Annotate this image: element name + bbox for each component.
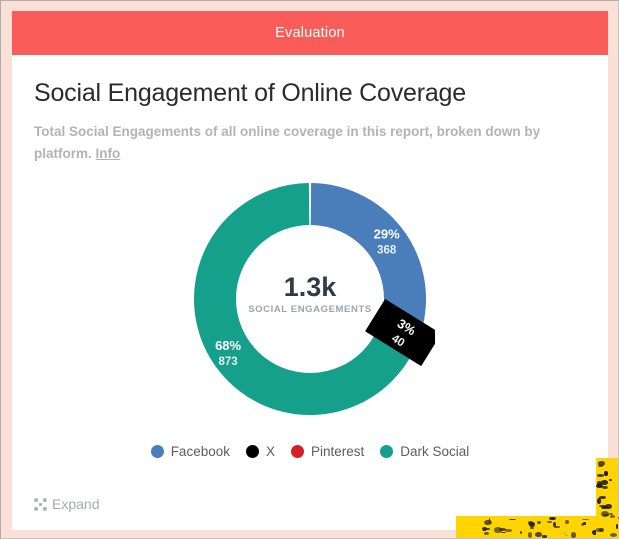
tape-speck [616,524,618,528]
tape-speck [599,505,606,507]
legend-dot-icon [380,445,393,458]
tape-speck [581,523,584,526]
tape-speck [542,535,547,537]
tape-speck [482,527,487,531]
tape-speck [565,520,569,524]
center-label: SOCIAL ENGAGEMENTS [248,304,372,315]
tape-speck [484,520,491,525]
tape-overlay-bottom [456,516,619,538]
tape-speck [601,511,609,517]
page-title: Social Engagement of Online Coverage [34,79,586,108]
card-frame: Evaluation Social Engagement of Online C… [12,11,608,530]
card-body: Social Engagement of Online Coverage Tot… [12,55,608,530]
tape-speck [553,522,556,527]
tape-speck [610,533,617,537]
tape-speck [549,517,556,519]
tape-speck [571,532,576,537]
slice-percent-facebook: 29% [374,227,400,242]
tape-speck [499,528,506,531]
tape-overlay-right [596,458,618,538]
tape-speck [564,533,565,535]
expand-grid-icon [34,498,47,511]
tape-speck [602,486,608,490]
banner-title: Evaluation [275,25,345,41]
tape-speck [566,535,567,536]
legend-label: Facebook [171,444,230,459]
donut-chart: 29%36868%873 3%40 1.3k SOCIAL ENGAGEMENT… [34,174,586,426]
tape-speck [537,521,541,524]
tape-speck [597,498,601,503]
card-subtitle: Total Social Engagements of all online c… [34,121,554,165]
donut-svg: 29%36868%873 3%40 1.3k SOCIAL ENGAGEMENT… [185,174,435,424]
slice-percent-dark-social: 68% [215,338,241,353]
info-link[interactable]: Info [96,146,121,161]
tape-speck [505,529,512,532]
center-total: 1.3k [284,272,338,302]
tape-speck [529,522,534,527]
tape-speck [501,532,506,533]
legend-item-dark-social[interactable]: Dark Social [380,444,469,459]
report-card-screen: Evaluation Social Engagement of Online C… [0,0,619,539]
tape-speck [609,479,612,481]
evaluation-banner: Evaluation [12,11,608,55]
tape-speck [598,465,602,467]
chart-legend: FacebookXPinterestDark Social [34,444,586,459]
slice-value-facebook: 368 [377,245,397,257]
legend-label: X [266,444,275,459]
legend-item-pinterest[interactable]: Pinterest [291,444,364,459]
tape-speck [582,519,589,520]
legend-item-x[interactable]: X [246,444,275,459]
tape-speck [520,531,523,534]
legend-label: Dark Social [400,444,469,459]
tape-speck [484,532,490,535]
expand-label: Expand [52,496,99,512]
tape-speck [509,519,515,520]
tape-speck [604,471,607,476]
slice-value-dark-social: 873 [219,356,238,368]
legend-label: Pinterest [311,444,364,459]
tape-speck [547,521,552,524]
legend-item-facebook[interactable]: Facebook [151,444,230,459]
tape-speck [535,532,543,537]
legend-dot-icon [151,445,164,458]
tape-speck [530,527,535,529]
tape-speck [528,532,533,538]
tape-speck [597,474,605,477]
legend-dot-icon [291,445,304,458]
tape-speck [596,528,600,532]
legend-dot-icon [246,445,259,458]
tape-speck [610,515,615,519]
expand-button[interactable]: Expand [34,496,99,512]
donut-wrapper: 29%36868%873 3%40 1.3k SOCIAL ENGAGEMENT… [185,174,435,424]
